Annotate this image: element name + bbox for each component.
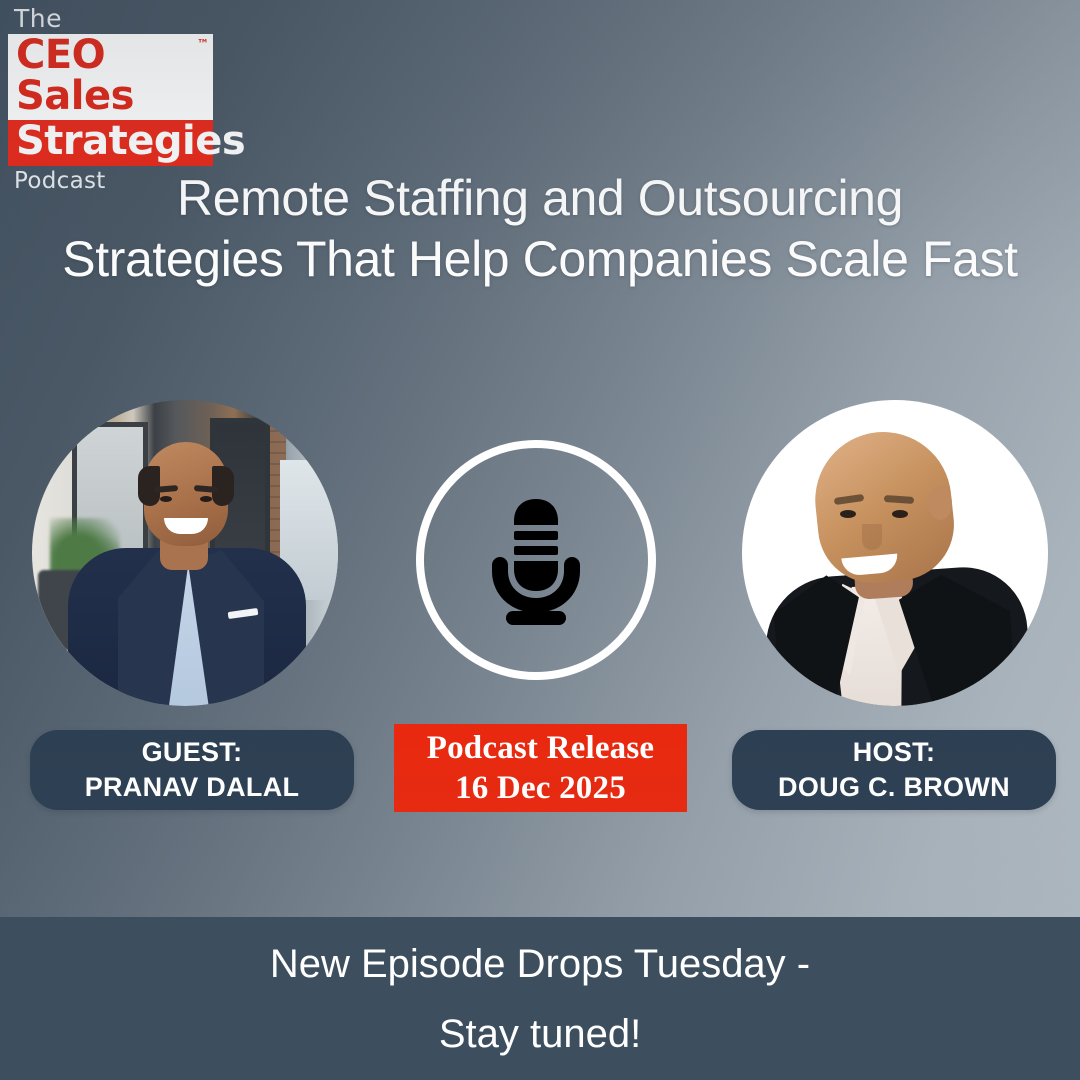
logo-strategies-band: Strategies [8,120,213,166]
host-avatar [742,400,1048,706]
footer-banner: New Episode Drops Tuesday - Stay tuned! [0,917,1080,1080]
guest-name-badge: GUEST: PRANAV DALAL [30,730,354,810]
release-date-badge: Podcast Release 16 Dec 2025 [394,724,687,812]
footer-line-1: New Episode Drops Tuesday - [270,944,810,984]
logo-ceo-sales-band: CEO Sales ™ [8,34,213,120]
center-mic-badge [412,436,660,684]
guest-name-label: PRANAV DALAL [85,770,300,805]
host-nose [862,524,882,550]
guest-eye-right [200,496,212,502]
logo-strategies-text: Strategies [16,118,245,164]
host-name-badge: HOST: DOUG C. BROWN [732,730,1056,810]
host-name-label: DOUG C. BROWN [778,770,1010,805]
trademark-icon: ™ [197,37,209,51]
microphone-icon [484,495,588,625]
host-role-label: HOST: [853,735,936,770]
logo-the-text: The [8,6,213,32]
guest-eye-left [160,496,172,502]
brand-logo: The CEO Sales ™ Strategies Podcast [8,6,213,194]
guest-photo [32,400,338,706]
episode-title: Remote Staffing and Outsourcing Strategi… [60,168,1020,290]
host-photo [742,400,1048,706]
guest-avatar [32,400,338,706]
footer-line-2: Stay tuned! [439,1014,641,1054]
host-eye-right [892,510,908,518]
release-date: 16 Dec 2025 [455,768,626,808]
logo-ceo-sales-text: CEO Sales [16,35,205,117]
host-ear [928,486,952,520]
podcast-promo-graphic: The CEO Sales ™ Strategies Podcast Remot… [0,0,1080,1080]
release-label: Podcast Release [427,728,655,768]
host-eye-left [840,510,856,518]
guest-role-label: GUEST: [142,735,243,770]
